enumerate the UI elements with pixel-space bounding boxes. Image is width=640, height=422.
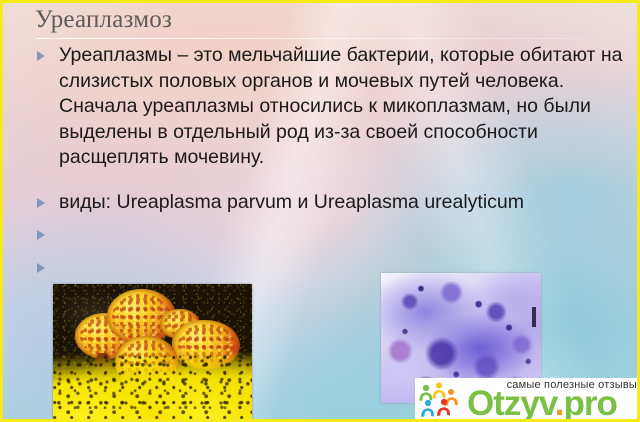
triangle-bullet-icon — [37, 230, 45, 240]
otzyv-logo-icon — [417, 381, 463, 421]
bullet-list: Уреаплазмы – это мельчайшие бактерии, ко… — [33, 43, 623, 288]
watermark-brand-name: Otzyv — [467, 384, 555, 422]
presentation-slide: Уреаплазмоз Уреаплазмы – это мельчайшие … — [0, 0, 640, 422]
watermark-brand: Otzyv.pro — [467, 385, 617, 422]
watermark-banner: самые полезные отзывы Otzyv.pro — [415, 378, 640, 422]
triangle-bullet-icon — [37, 51, 45, 61]
watermark-brand-tld: pro — [563, 384, 616, 422]
list-item-label: Уреаплазмы – это мельчайшие бактерии, ко… — [59, 44, 623, 168]
triangle-bullet-icon — [37, 263, 45, 273]
list-item-label: виды: Ureaplasma parvum и Ureaplasma ure… — [59, 191, 524, 213]
bullet-spacer — [33, 178, 623, 190]
list-item: виды: Ureaplasma parvum и Ureaplasma ure… — [33, 190, 623, 216]
page-title: Уреаплазмоз — [35, 4, 172, 35]
title-divider — [36, 38, 615, 39]
list-item — [33, 222, 623, 248]
smear-scale-mark — [532, 307, 536, 327]
list-item: Уреаплазмы – это мельчайшие бактерии, ко… — [33, 43, 623, 171]
membrane-speckle — [53, 353, 252, 422]
triangle-bullet-icon — [37, 198, 45, 208]
electron-micrograph-ureaplasma — [53, 284, 252, 421]
